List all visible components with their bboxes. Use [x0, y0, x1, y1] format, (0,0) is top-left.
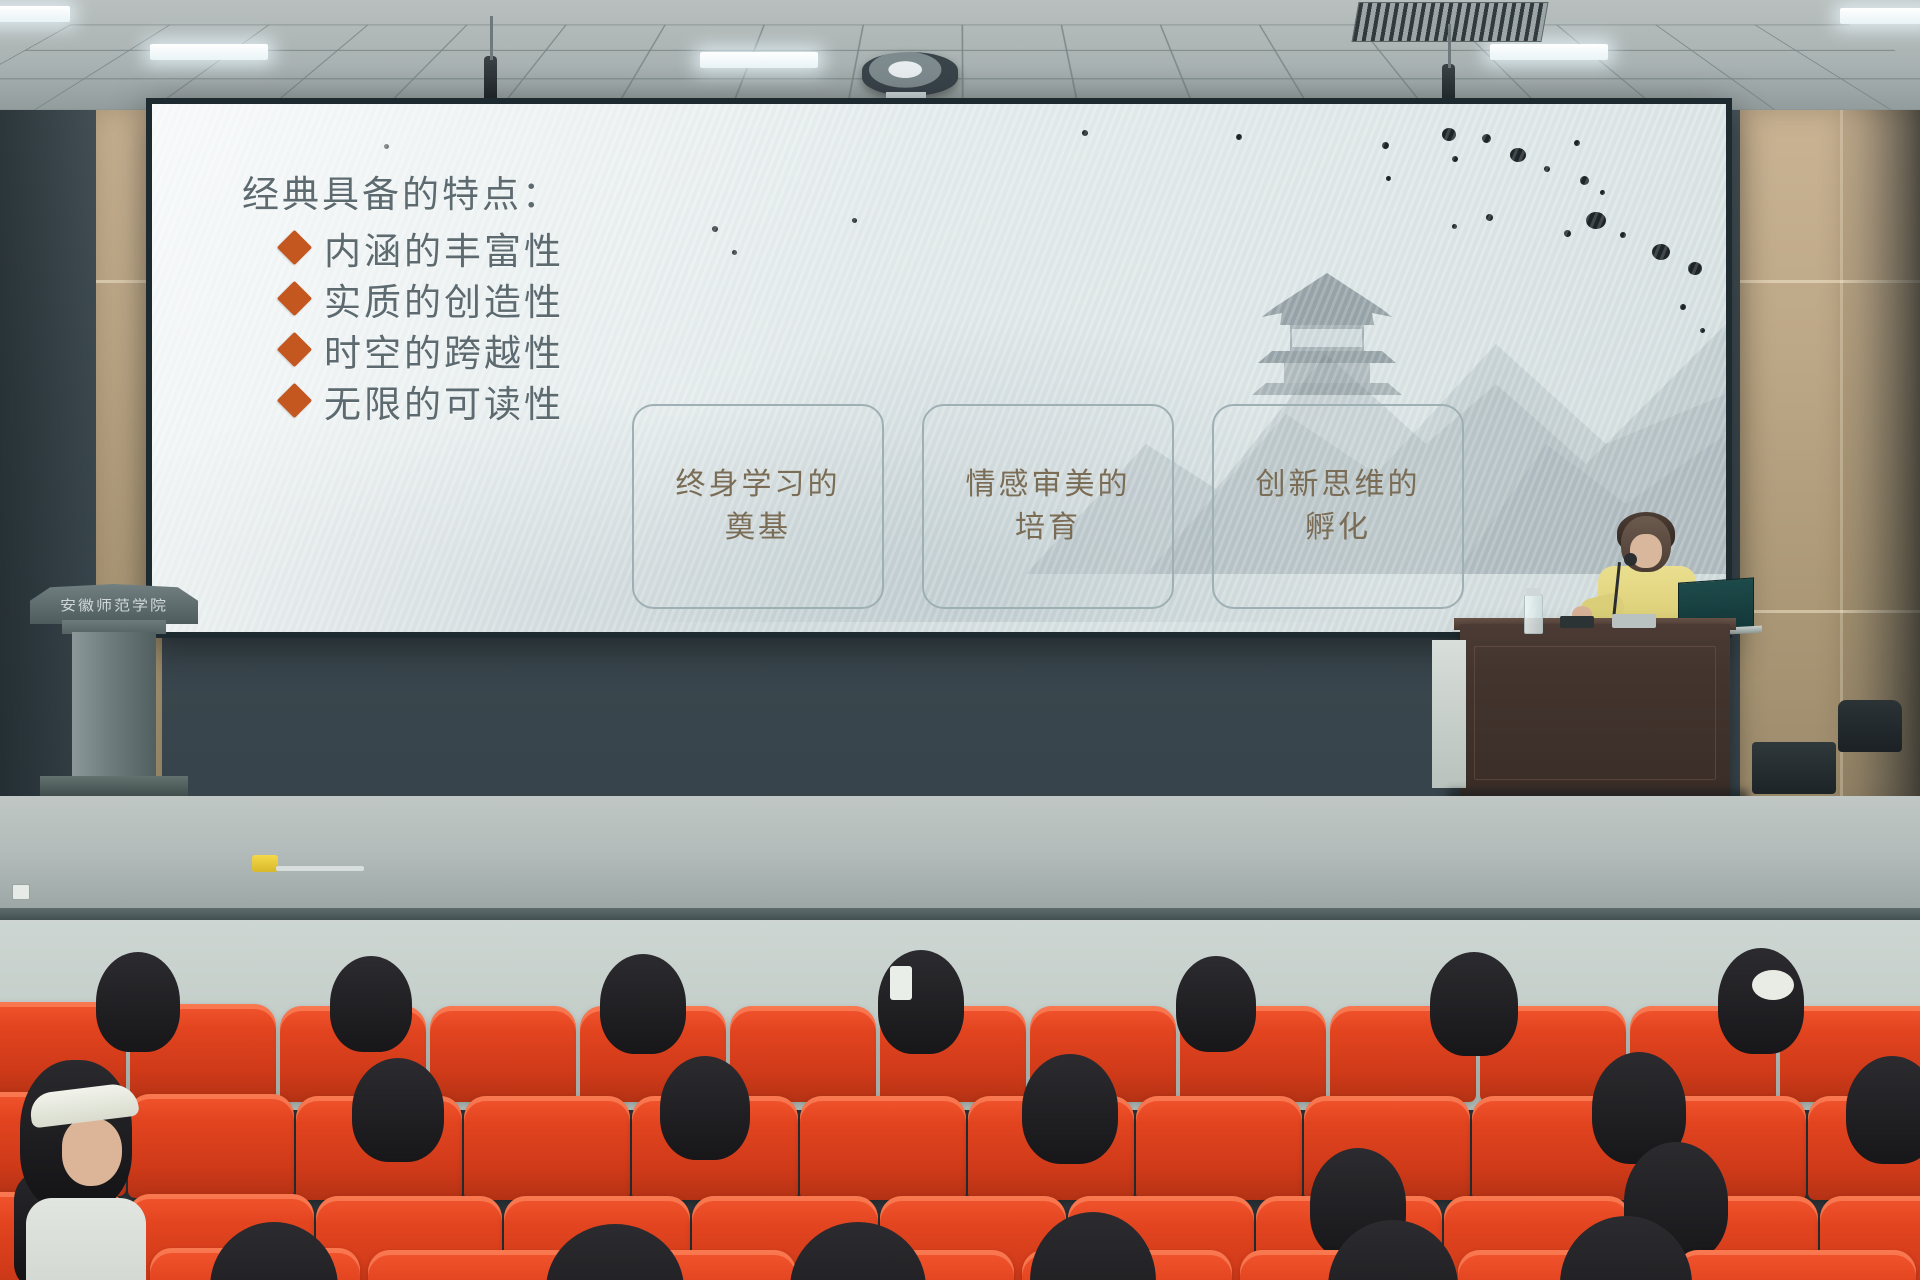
desk-item-dark — [1560, 616, 1594, 628]
stage-floor — [0, 796, 1920, 916]
bottle-cap — [1526, 588, 1541, 596]
wall-socket — [12, 884, 30, 900]
audience-head — [600, 954, 686, 1054]
slide-card: 创新思维的 孵化 — [1212, 404, 1464, 609]
diamond-bullet-icon — [277, 281, 312, 316]
ceiling-projector — [862, 52, 958, 96]
hanger-rod — [490, 16, 493, 60]
wall-panel-right — [1740, 110, 1844, 810]
audience-head — [1176, 956, 1256, 1052]
projection-screen-frame: 经典具备的特点： 内涵的丰富性 实质的创造性 时空的跨越性 无限的可读性 — [146, 98, 1732, 638]
audience-seating — [0, 1000, 1920, 1280]
bullet-label: 无限的可读性 — [324, 374, 564, 428]
list-item: 无限的可读性 — [282, 375, 564, 426]
desk-side-box — [1432, 640, 1466, 788]
seat — [128, 1094, 294, 1198]
audience-head — [352, 1058, 444, 1162]
audience-head — [96, 952, 180, 1052]
floor-equipment-box — [1752, 742, 1836, 794]
hair-scrunchie — [1752, 970, 1794, 1000]
microphone-icon — [1624, 553, 1637, 566]
audience-member-with-visor — [20, 1060, 150, 1280]
yellow-tape-roll — [252, 855, 278, 872]
bullet-label: 时空的跨越性 — [324, 323, 564, 377]
bullet-label: 实质的创造性 — [324, 272, 564, 326]
audience-head — [1430, 952, 1518, 1056]
floor-strip — [276, 866, 364, 871]
card-line-2: 奠基 — [725, 507, 791, 550]
water-bottle — [1524, 594, 1543, 634]
slide-bullet-list: 内涵的丰富性 实质的创造性 时空的跨越性 无限的可读性 — [282, 222, 564, 426]
seat — [464, 1096, 630, 1200]
slide-title: 经典具备的特点： — [242, 164, 562, 218]
audience-head — [1022, 1054, 1118, 1164]
podium-column — [72, 632, 156, 794]
seat — [1136, 1096, 1302, 1200]
list-item: 实质的创造性 — [282, 273, 564, 324]
hanging-speaker — [484, 56, 497, 102]
desk-front-panel — [1474, 646, 1716, 780]
audience-head — [330, 956, 412, 1052]
card-line-1: 终身学习的 — [676, 464, 841, 507]
lectern-desk — [1460, 624, 1730, 796]
seat — [1676, 1250, 1916, 1280]
ceiling-light — [150, 44, 268, 60]
card-line-1: 创新思维的 — [1256, 464, 1421, 507]
card-line-2: 孵化 — [1305, 507, 1371, 550]
bullet-label: 内涵的丰富性 — [324, 221, 564, 275]
list-item: 时空的跨越性 — [282, 324, 564, 375]
list-item: 内涵的丰富性 — [282, 222, 564, 273]
slide-card-row: 终身学习的 奠基 情感审美的 培育 创新思维的 孵化 — [632, 404, 1464, 609]
diamond-bullet-icon — [277, 230, 312, 265]
ceiling-light — [0, 6, 70, 22]
face — [62, 1118, 122, 1186]
desk-item-grey — [1612, 614, 1656, 628]
seat — [430, 1006, 576, 1102]
projection-screen: 经典具备的特点： 内涵的丰富性 实质的创造性 时空的跨越性 无限的可读性 — [152, 104, 1726, 632]
diamond-bullet-icon — [277, 383, 312, 418]
card-line-1: 情感审美的 — [966, 464, 1131, 507]
seat — [800, 1096, 966, 1200]
ceiling-light — [1490, 44, 1608, 60]
seat — [730, 1006, 876, 1102]
slide-card: 情感审美的 培育 — [922, 404, 1174, 609]
slide-card: 终身学习的 奠基 — [632, 404, 884, 609]
lecture-hall-photo: 经典具备的特点： 内涵的丰富性 实质的创造性 时空的跨越性 无限的可读性 — [0, 0, 1920, 1280]
ceiling-light — [1840, 8, 1920, 24]
audience-head — [660, 1056, 750, 1160]
phone-screen — [890, 966, 912, 1000]
audience-head — [1718, 948, 1804, 1054]
podium-logo-text: 安徽师范学院 — [30, 593, 198, 615]
card-line-2: 培育 — [1015, 507, 1081, 550]
shirt — [26, 1198, 146, 1280]
hanger-rod — [1448, 24, 1451, 68]
floor-bag — [1838, 700, 1902, 752]
diamond-bullet-icon — [277, 332, 312, 367]
podium-base — [40, 776, 188, 798]
ceiling-light — [700, 52, 818, 68]
